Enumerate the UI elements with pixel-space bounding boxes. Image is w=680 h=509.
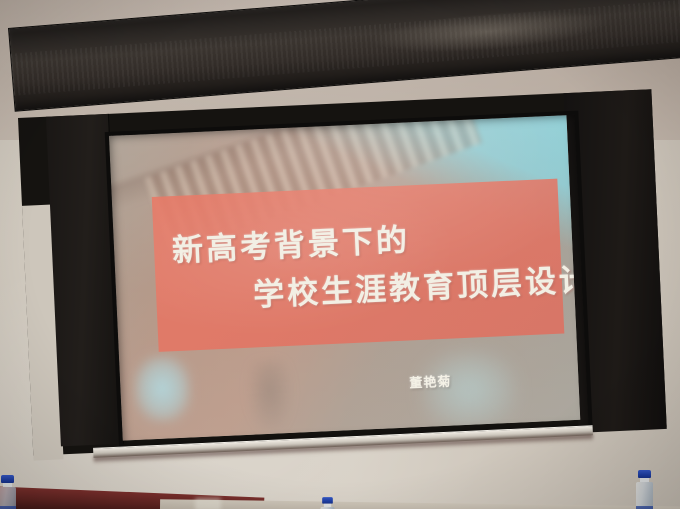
conference-room-photo: 新高考背景下的 学校生涯教育顶层设计 董艳菊	[0, 0, 680, 509]
water-bottle-left	[0, 475, 16, 509]
water-bottle-right	[636, 470, 653, 509]
bottle-cap-icon	[638, 470, 651, 478]
table-glass	[195, 498, 221, 509]
screen-mask-right	[563, 89, 666, 433]
bottle-cap-icon	[1, 475, 14, 483]
projector-screen: 新高考背景下的 学校生涯教育顶层设计 董艳菊	[18, 89, 667, 467]
slide-presenter-name: 董艳菊	[409, 371, 452, 392]
water-bottle-center	[321, 497, 335, 509]
projected-slide: 新高考背景下的 学校生涯教育顶层设计 董艳菊	[109, 115, 580, 440]
